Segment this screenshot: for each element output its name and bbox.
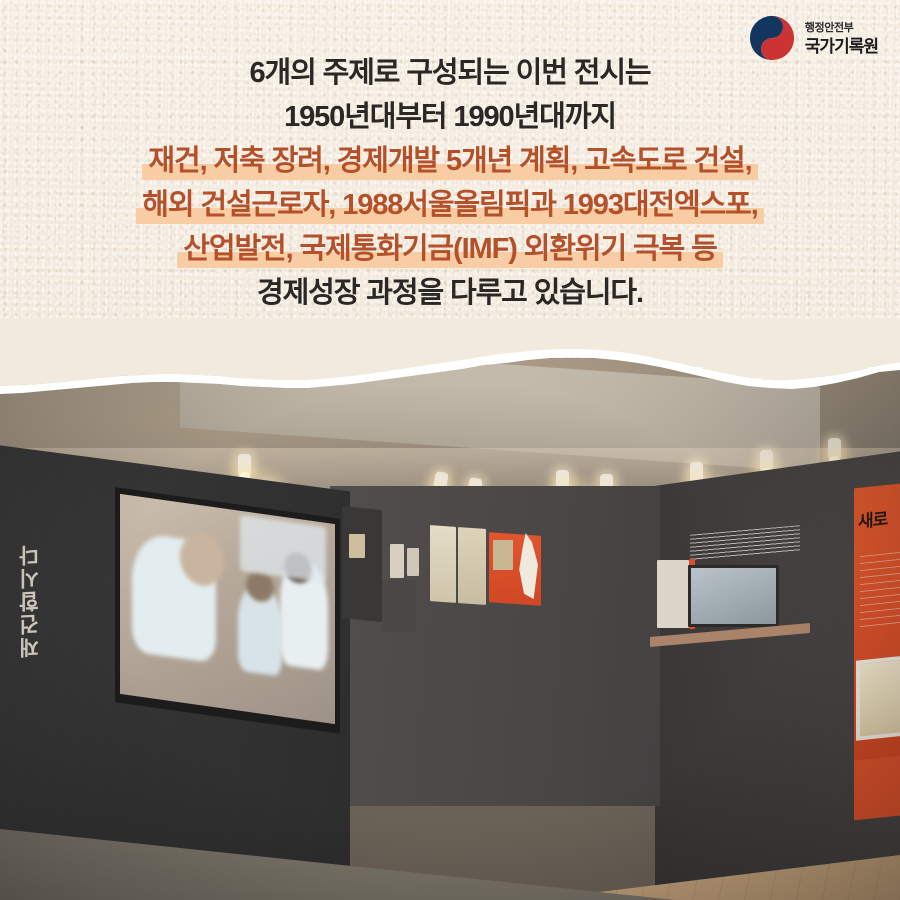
logo-text-block: 행정안전부 국가기록원	[805, 21, 878, 55]
partition-document-panel	[349, 534, 365, 558]
partition-wall	[342, 506, 382, 622]
wall-signage-title: 재건합시다	[16, 542, 46, 659]
wall-exhibit-panel	[407, 548, 419, 576]
red-banner-document	[856, 655, 900, 740]
wall-exhibit-panel	[390, 544, 404, 578]
projection-screen	[120, 494, 335, 724]
headline-line-3: 재건, 저축 장려, 경제개발 5개년 계획, 고속도로 건설,	[0, 140, 900, 182]
newspaper-panel	[657, 560, 689, 628]
headline-block: 6개의 주제로 구성되는 이번 전시는 1950년대부터 1990년대까지 재건…	[0, 52, 900, 316]
red-banner-lower	[854, 756, 900, 821]
projection-screen-frame	[115, 487, 340, 734]
red-banner-title: 새로	[858, 504, 887, 532]
headline-line-1: 6개의 주제로 구성되는 이번 전시는	[0, 52, 900, 94]
headline-line-4: 해외 건설근로자, 1988서울올림픽과 1993대전엑스포,	[0, 184, 900, 226]
floor-pedestal-case	[382, 580, 416, 632]
headline-line-5: 산업발전, 국제통화기금(IMF) 외환위기 극복 등	[0, 228, 900, 270]
track-spotlight-icon	[238, 454, 251, 476]
track-spotlight-icon	[828, 438, 841, 460]
framed-document	[493, 540, 513, 570]
exhibition-hall-photo: 재건합시다 2	[0, 358, 900, 900]
logo-ministry-name: 행정안전부	[805, 23, 878, 34]
historic-map-panel	[430, 525, 456, 603]
headline-line-6: 경제성장 과정을 다루고 있습니다.	[0, 272, 900, 314]
projection-window	[240, 515, 326, 583]
historic-map-panel	[458, 527, 486, 605]
exhibition-info-card: 행정안전부 국가기록원 6개의 주제로 구성되는 이번 전시는 1950년대부터…	[0, 0, 900, 900]
headline-line-2: 1950년대부터 1990년대까지	[0, 96, 900, 138]
red-banner-text-lines	[860, 552, 900, 628]
wall-monitor	[688, 565, 779, 627]
